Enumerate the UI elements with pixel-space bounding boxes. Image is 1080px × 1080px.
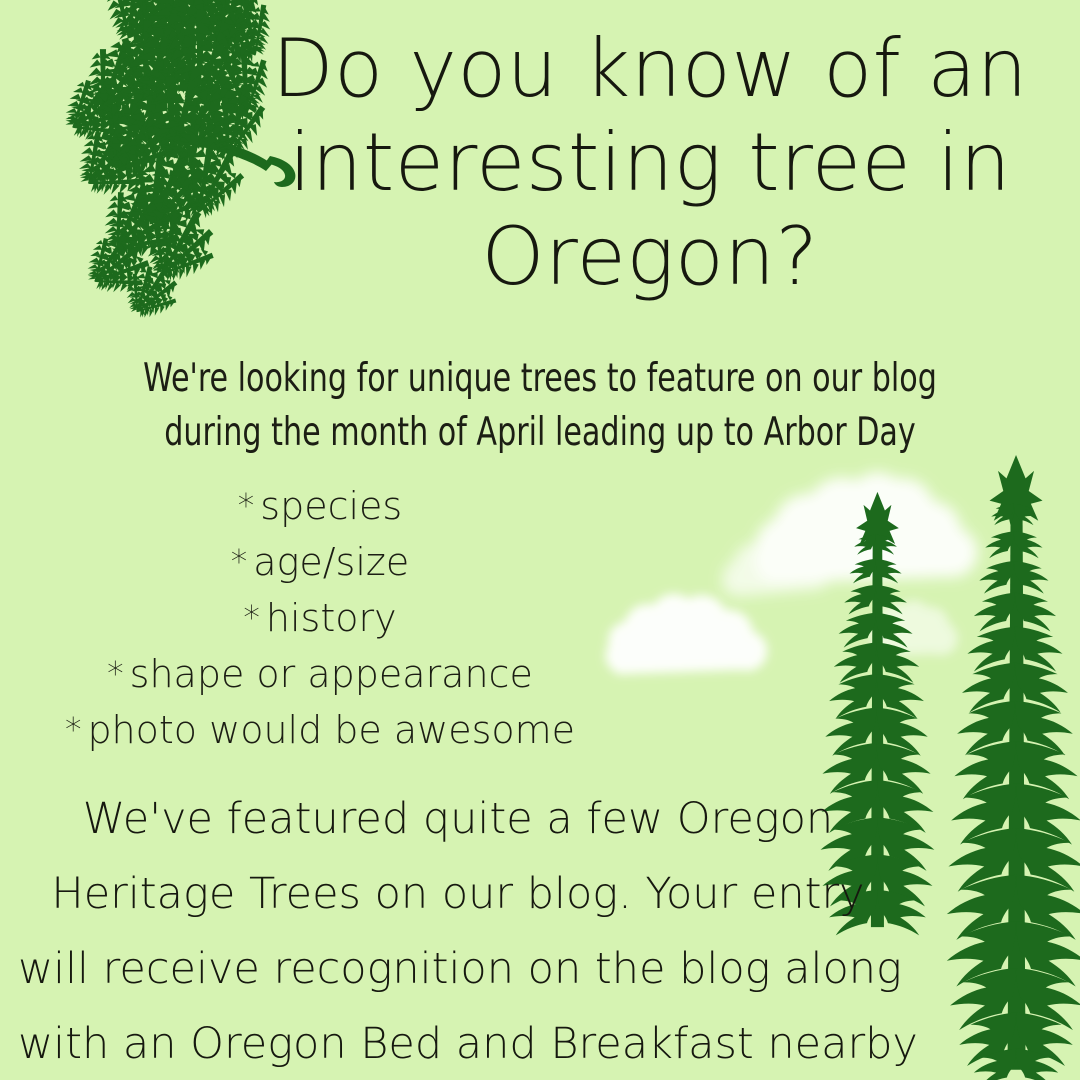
list-item-label: history [266,596,397,640]
bullet-marker-icon: * [231,542,254,581]
headline-line-1: Do you know of an [250,22,1050,116]
closing-paragraph: We've featured quite a few Oregon Herita… [18,782,898,1080]
intro-line-1: We're looking for unique trees to featur… [95,352,986,406]
bullet-marker-icon: * [243,598,266,637]
list-item: *history [20,590,620,646]
headline-line-3: Oregon? [250,210,1050,304]
closing-line-3: will receive recognition on the blog alo… [18,932,898,1007]
intro-line-2: during the month of April leading up to … [95,406,986,460]
cloud-illustration [575,440,1035,720]
list-item-label: photo would be awesome [87,708,575,752]
criteria-list: *species *age/size *history *shape or ap… [20,478,620,758]
list-item: *species [20,478,620,534]
bullet-marker-icon: * [107,654,130,693]
page-title: Do you know of an interesting tree in Or… [250,22,1050,304]
list-item: *shape or appearance [20,646,620,702]
headline-line-2: interesting tree in [250,116,1050,210]
bullet-marker-icon: * [238,486,261,525]
list-item-label: age/size [253,540,409,584]
intro-paragraph: We're looking for unique trees to featur… [95,352,986,460]
list-item-label: species [260,484,402,528]
list-item: *age/size [20,534,620,590]
conifer-tree-right [947,455,1080,1080]
poster-canvas: Do you know of an interesting tree in Or… [0,0,1080,1080]
bullet-marker-icon: * [65,710,88,749]
list-item: *photo would be awesome [20,702,620,758]
closing-line-1: We've featured quite a few Oregon [18,782,898,857]
list-item-label: shape or appearance [130,652,533,696]
closing-line-2: Heritage Trees on our blog. Your entry [18,857,898,932]
closing-line-4: with an Oregon Bed and Breakfast nearby [18,1007,898,1080]
